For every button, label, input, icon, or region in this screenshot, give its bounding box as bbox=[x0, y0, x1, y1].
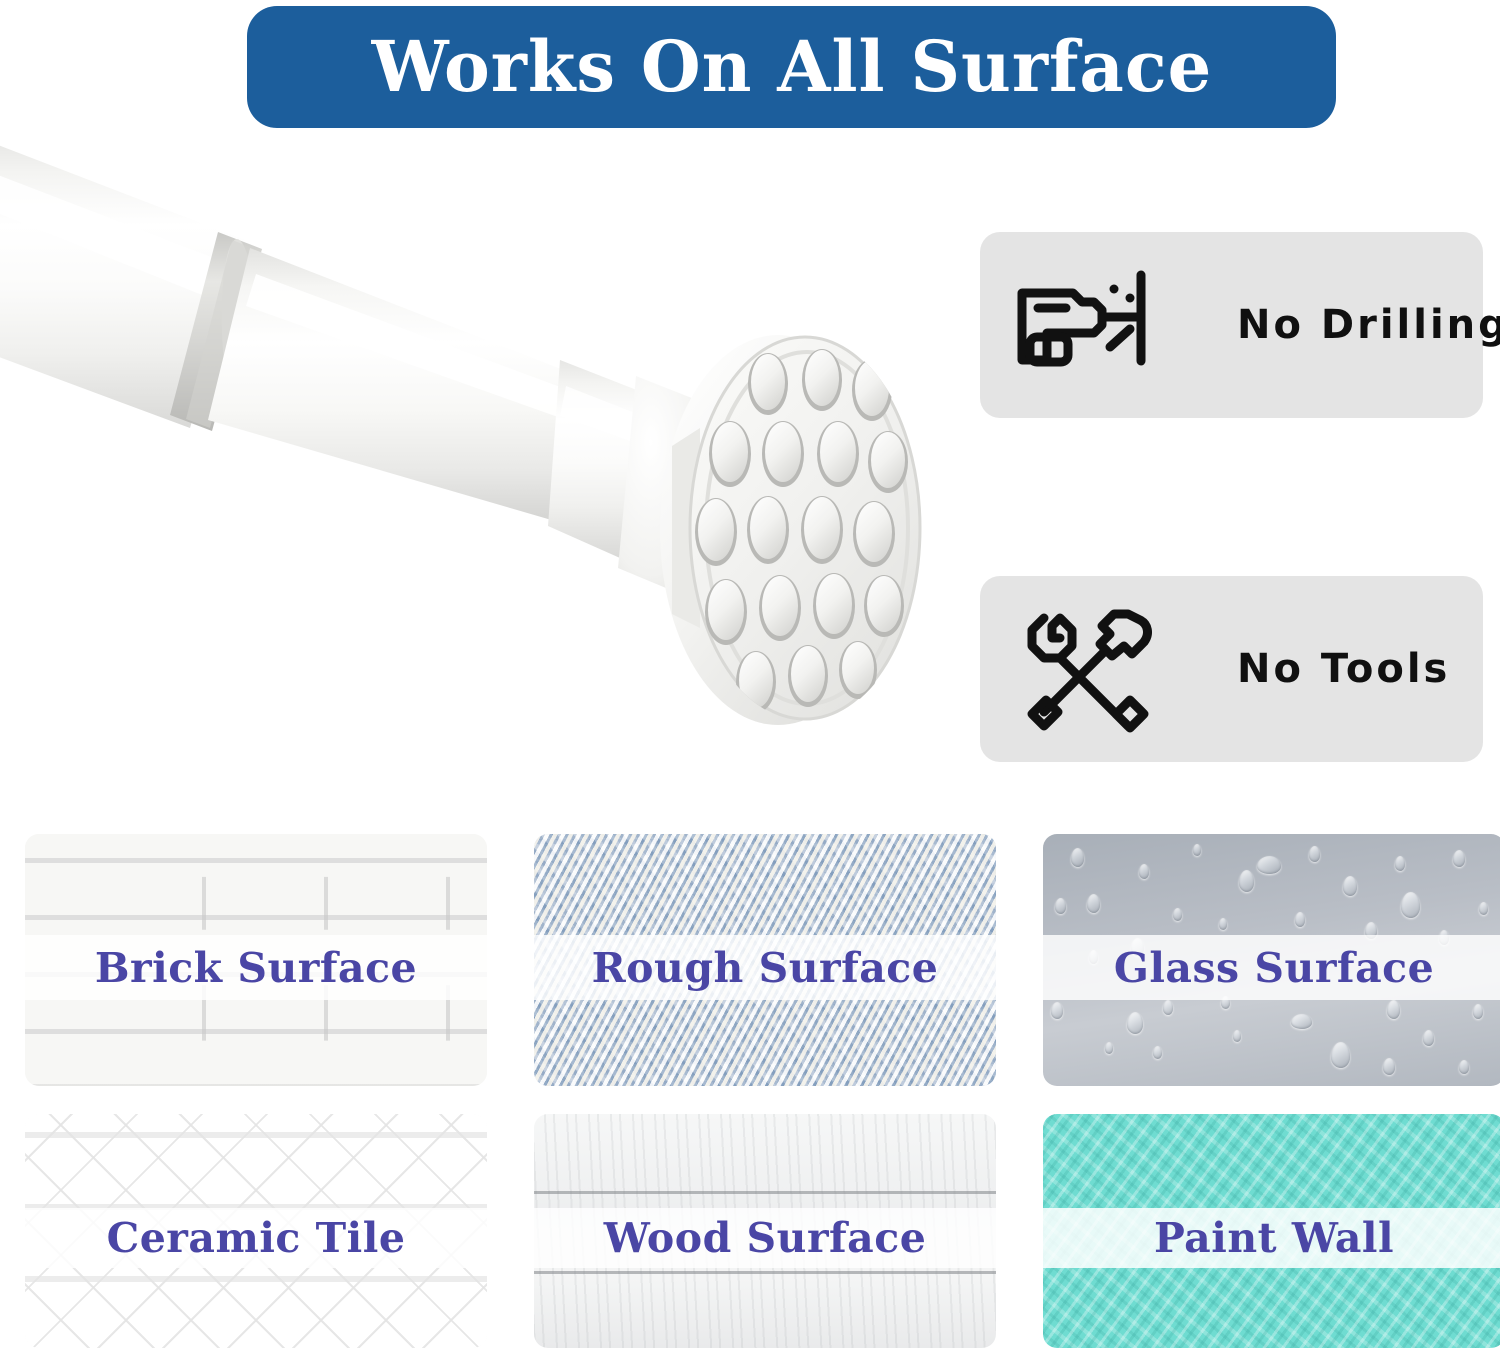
feature-badge-no-drilling: No Drilling bbox=[980, 232, 1483, 418]
badge-label-no-drilling: No Drilling bbox=[1237, 302, 1500, 348]
surface-label-brick: Brick Surface bbox=[95, 944, 417, 992]
surface-swatch-rough: Rough Surface bbox=[534, 834, 996, 1086]
surface-swatch-paint-wall: Paint Wall bbox=[1043, 1114, 1500, 1348]
surface-swatch-glass: Glass Surface bbox=[1043, 834, 1500, 1086]
surface-label-rough: Rough Surface bbox=[592, 944, 939, 992]
surface-swatch-brick: Brick Surface bbox=[25, 834, 487, 1086]
product-infographic: Works On All Surface bbox=[0, 0, 1500, 1365]
rod-inner-tube bbox=[208, 248, 610, 526]
title-banner: Works On All Surface bbox=[247, 6, 1336, 128]
wrench-hammer-icon bbox=[1010, 604, 1185, 734]
swatch-label-band: Glass Surface bbox=[1043, 935, 1500, 1001]
surface-label-ceramic-tile: Ceramic Tile bbox=[107, 1214, 406, 1262]
swatch-label-band: Rough Surface bbox=[534, 935, 996, 1001]
drill-icon bbox=[1010, 260, 1185, 390]
swatch-label-band: Paint Wall bbox=[1043, 1208, 1500, 1269]
surface-swatch-grid: Brick Surface Rough Surface bbox=[25, 834, 1485, 1348]
swatch-label-band: Ceramic Tile bbox=[25, 1208, 487, 1269]
surface-label-wood: Wood Surface bbox=[604, 1214, 927, 1262]
surface-swatch-ceramic-tile: Ceramic Tile bbox=[25, 1114, 487, 1348]
swatch-label-band: Brick Surface bbox=[25, 935, 487, 1001]
page-title: Works On All Surface bbox=[371, 32, 1212, 102]
suction-cup-disc bbox=[660, 335, 920, 725]
product-image bbox=[0, 128, 960, 768]
badge-label-no-tools: No Tools bbox=[1237, 646, 1450, 692]
surface-swatch-wood: Wood Surface bbox=[534, 1114, 996, 1348]
feature-badge-no-tools: No Tools bbox=[980, 576, 1483, 762]
swatch-label-band: Wood Surface bbox=[534, 1208, 996, 1269]
tension-rod-illustration bbox=[0, 128, 960, 768]
surface-label-glass: Glass Surface bbox=[1114, 944, 1434, 992]
surface-label-paint-wall: Paint Wall bbox=[1154, 1214, 1394, 1262]
